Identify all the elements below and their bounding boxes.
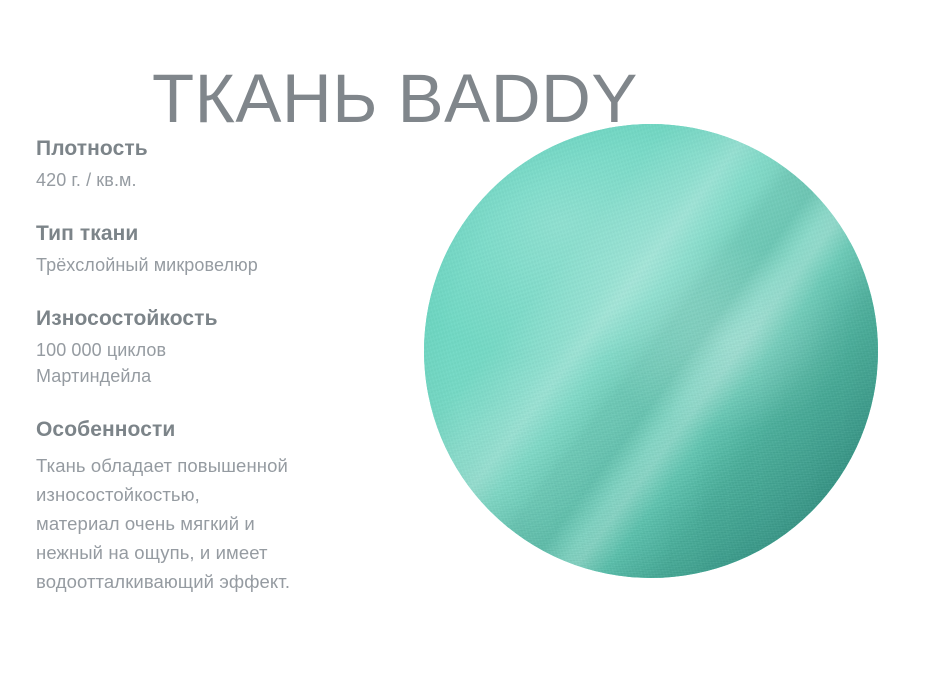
- specification-list: Плотность 420 г. / кв.м. Тип ткани Трёхс…: [36, 136, 396, 596]
- spec-line: износостойкостью,: [36, 480, 396, 509]
- spec-line: Ткань обладает повышенной: [36, 451, 396, 480]
- spec-heading-durability: Износостойкость: [36, 306, 396, 332]
- spec-line: 100 000 циклов: [36, 337, 396, 363]
- spec-item-durability: Износостойкость 100 000 циклов Мартиндей…: [36, 306, 396, 389]
- spec-item-features: Особенности Ткань обладает повышенной из…: [36, 417, 396, 596]
- spec-line: 420 г. / кв.м.: [36, 167, 396, 193]
- spec-heading-density: Плотность: [36, 136, 396, 162]
- spec-value-density: 420 г. / кв.м.: [36, 167, 396, 193]
- spec-line: материал очень мягкий и: [36, 509, 396, 538]
- fabric-swatch-photo: [424, 124, 878, 578]
- spec-value-features: Ткань обладает повышенной износостойкост…: [36, 451, 396, 596]
- spec-line: нежный на ощупь, и имеет: [36, 538, 396, 567]
- fabric-vignette: [424, 124, 878, 578]
- spec-value-durability: 100 000 циклов Мартиндейла: [36, 337, 396, 389]
- spec-heading-fabric-type: Тип ткани: [36, 221, 396, 247]
- spec-value-fabric-type: Трёхслойный микровелюр: [36, 252, 396, 278]
- spec-line: Мартиндейла: [36, 363, 396, 389]
- fabric-spec-slide: ТКАНЬ BADDY Плотность 420 г. / кв.м. Тип…: [0, 0, 934, 700]
- spec-item-fabric-type: Тип ткани Трёхслойный микровелюр: [36, 221, 396, 278]
- spec-heading-features: Особенности: [36, 417, 396, 443]
- spec-line: водоотталкивающий эффект.: [36, 567, 396, 596]
- spec-line: Трёхслойный микровелюр: [36, 252, 396, 278]
- spec-item-density: Плотность 420 г. / кв.м.: [36, 136, 396, 193]
